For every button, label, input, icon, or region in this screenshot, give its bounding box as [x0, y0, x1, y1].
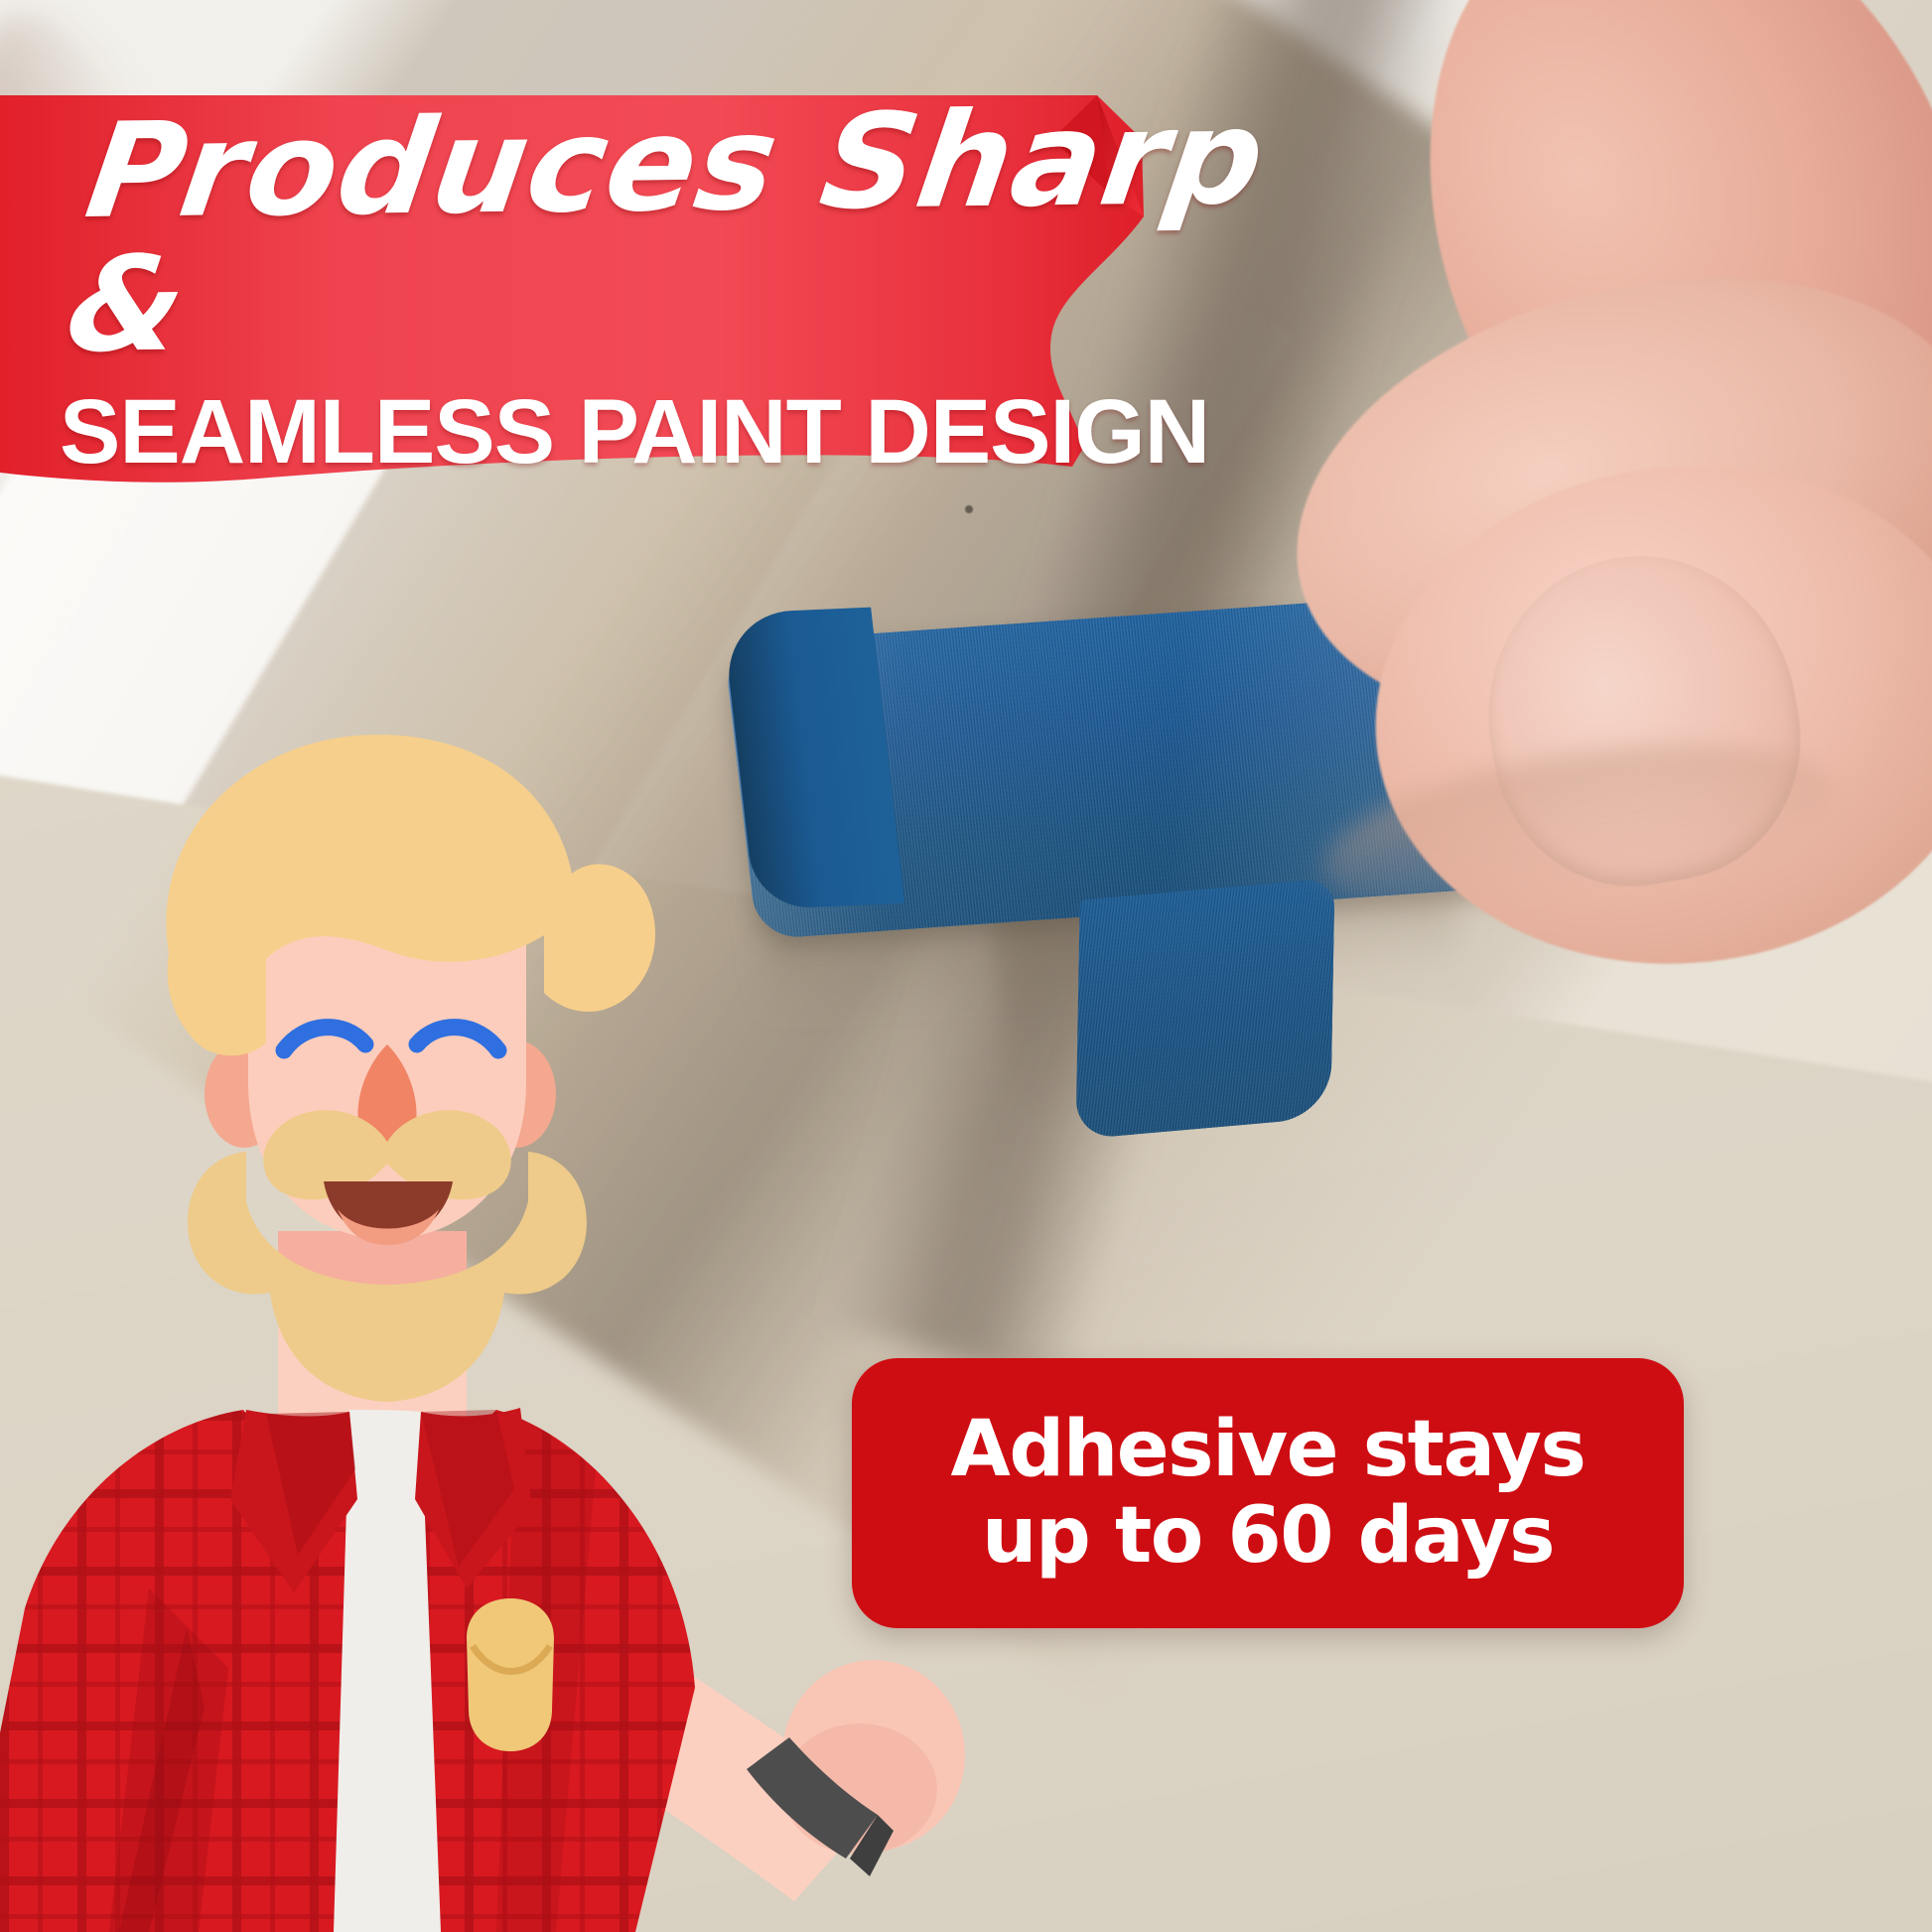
feature-callout-card: Adhesive stays up to 60 days	[852, 1358, 1684, 1628]
banner-headline-bold: SEAMLESS PAINT DESIGN	[60, 386, 1330, 478]
dust-speck	[965, 505, 973, 513]
mascot-shirt-pocket	[467, 1598, 554, 1751]
headline-banner: Produces Sharp & SEAMLESS PAINT DESIGN	[0, 77, 1509, 494]
banner-headline-script: Produces Sharp &	[60, 89, 1372, 372]
callout-text-block: Adhesive stays up to 60 days	[915, 1407, 1621, 1581]
callout-line-1: Adhesive stays	[951, 1407, 1586, 1493]
promo-image-canvas: Produces Sharp & SEAMLESS PAINT DESIGN	[0, 0, 1932, 1932]
banner-text-block: Produces Sharp & SEAMLESS PAINT DESIGN	[60, 105, 1330, 478]
tape-tail	[1075, 878, 1334, 1140]
mascot-svg	[0, 715, 973, 1932]
handyman-mascot-illustration	[0, 715, 973, 1932]
callout-line-2: up to 60 days	[951, 1493, 1586, 1580]
